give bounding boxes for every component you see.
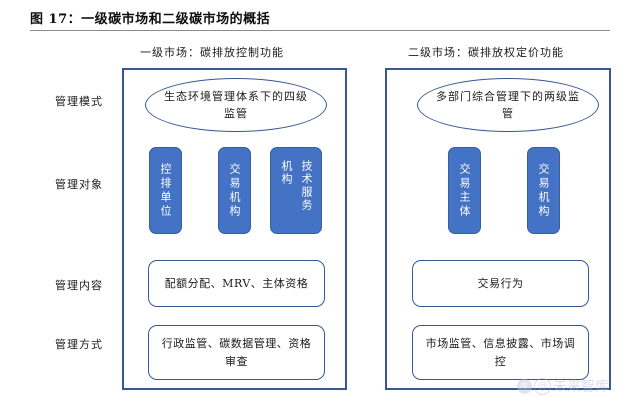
- figure-title: 图 17：一级碳市场和二级碳市场的概括: [30, 8, 270, 27]
- column-header-secondary-market: 二级市场：碳排放权定价功能: [408, 44, 564, 60]
- row-label-management-mode: 管理模式: [43, 93, 115, 109]
- row-label-management-content: 管理内容: [43, 277, 115, 293]
- secondary-market-object-label-1: 交易主体: [456, 163, 473, 219]
- secondary-market-content-text: 交易行为: [468, 275, 534, 293]
- primary-market-mode-text: 生态环境管理体系下的四级监管: [146, 88, 326, 122]
- secondary-market-content-box: 交易行为: [412, 260, 589, 307]
- secondary-market-method-box: 市场监管、信息披露、市场调控: [412, 325, 589, 380]
- secondary-market-mode-oval: 多部门综合管理下的两级监管: [417, 78, 599, 132]
- row-label-management-object: 管理对象: [43, 176, 115, 192]
- primary-market-panel: 生态环境管理体系下的四级监管 控排单位 交易机构 技术服务机构 配额分配、MRV…: [122, 68, 347, 390]
- primary-market-mode-oval: 生态环境管理体系下的四级监管: [145, 78, 327, 132]
- primary-market-object-box-2: 交易机构: [218, 147, 251, 234]
- secondary-market-object-box-1: 交易主体: [448, 147, 481, 234]
- primary-market-object-label-2: 交易机构: [226, 163, 243, 219]
- title-divider: [30, 30, 610, 31]
- secondary-market-object-box-2: 交易机构: [527, 147, 560, 234]
- primary-market-content-box: 配额分配、MRV、主体资格: [148, 260, 325, 307]
- primary-market-content-text: 配额分配、MRV、主体资格: [155, 275, 319, 293]
- row-label-management-method: 管理方式: [43, 336, 115, 352]
- primary-market-object-label-3: 技术服务机构: [276, 160, 316, 222]
- primary-market-object-box-1: 控排单位: [149, 147, 182, 234]
- secondary-market-method-text: 市场监管、信息披露、市场调控: [413, 335, 588, 371]
- primary-market-method-text: 行政监管、碳数据管理、资格审查: [149, 335, 324, 371]
- column-header-primary-market: 一级市场：碳排放控制功能: [140, 44, 284, 60]
- primary-market-method-box: 行政监管、碳数据管理、资格审查: [148, 325, 325, 380]
- secondary-market-object-label-2: 交易机构: [535, 163, 552, 219]
- primary-market-object-label-1: 控排单位: [157, 163, 174, 219]
- secondary-market-mode-text: 多部门综合管理下的两级监管: [418, 88, 598, 122]
- secondary-market-panel: 多部门综合管理下的两级监管 交易主体 交易机构 交易行为 市场监管、信息披露、市…: [385, 68, 611, 390]
- primary-market-object-box-3: 技术服务机构: [270, 147, 322, 234]
